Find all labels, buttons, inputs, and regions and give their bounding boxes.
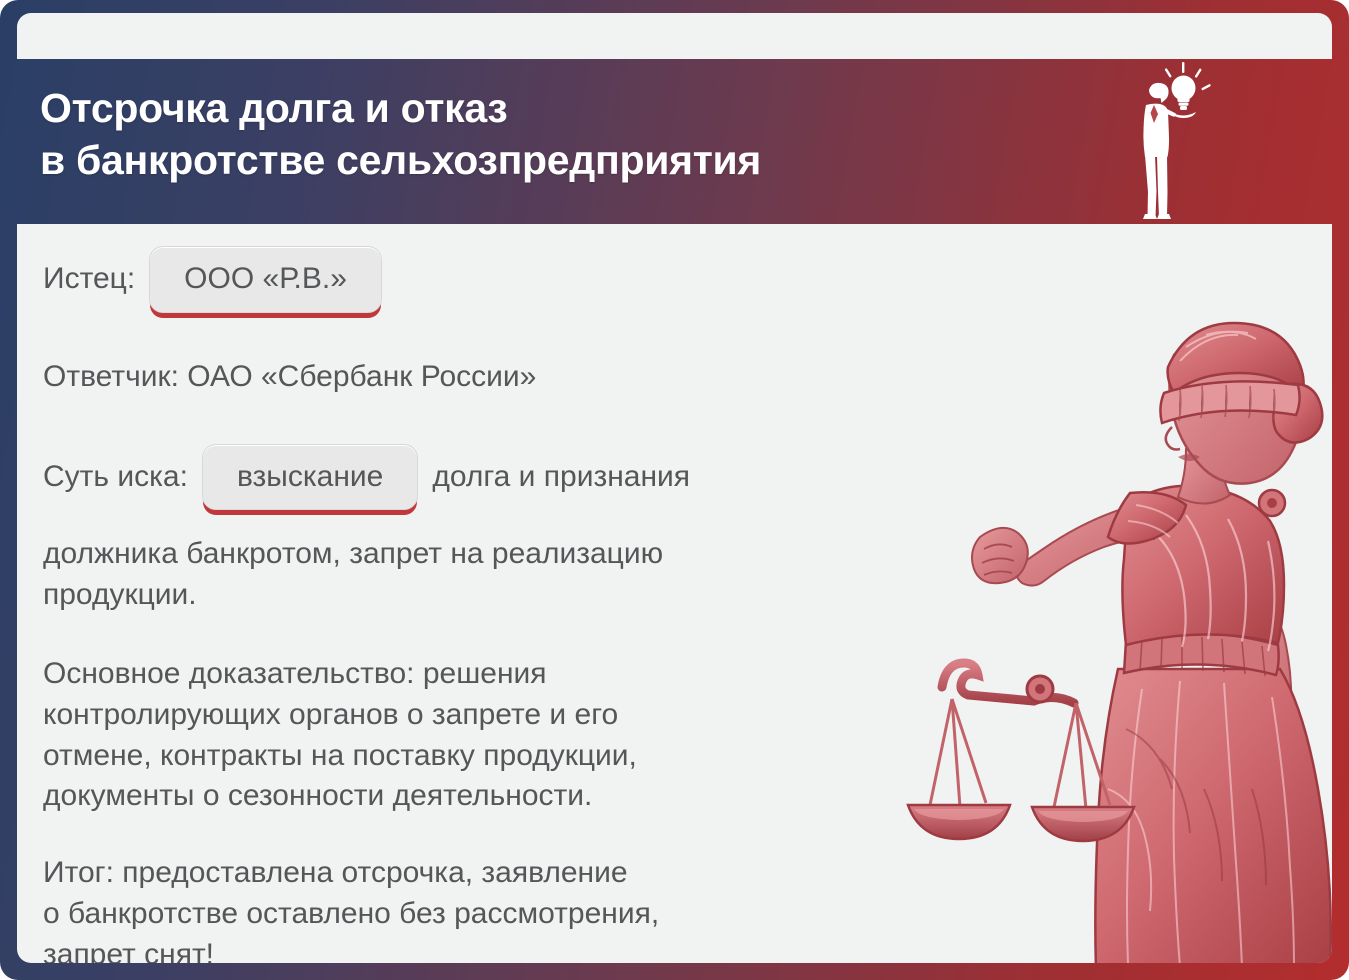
page-title: Отсрочка долга и отказ в банкротстве сел… xyxy=(40,82,1040,187)
claim-continuation: должника банкротом, запрет на реализацию… xyxy=(43,534,873,616)
claim-pill[interactable]: взыскание xyxy=(202,444,418,511)
body-panel: Истец: ООО «Р.В.» Ответчик: ОАО «Сбербан… xyxy=(17,224,1332,963)
claim-row: Суть иска: взыскание долга и признания xyxy=(43,444,1302,511)
case-summary: Истец: ООО «Р.В.» Ответчик: ОАО «Сбербан… xyxy=(17,224,1332,963)
evidence-paragraph: Основное доказательство: решения контрол… xyxy=(43,654,873,817)
claim-tail: долга и признания xyxy=(432,457,690,498)
plaintiff-row: Истец: ООО «Р.В.» xyxy=(43,246,1302,313)
businessman-lightbulb-icon xyxy=(1109,60,1219,220)
plaintiff-pill[interactable]: ООО «Р.В.» xyxy=(149,246,382,313)
info-card: Отсрочка долга и отказ в банкротстве сел… xyxy=(0,0,1349,980)
card-top-strip xyxy=(17,13,1332,59)
result-paragraph: Итог: предоставлена отсрочка, заявление … xyxy=(43,853,873,963)
defendant-line: Ответчик: ОАО «Сбербанк России» xyxy=(43,357,873,398)
claim-label: Суть иска: xyxy=(43,457,188,498)
plaintiff-label: Истец: xyxy=(43,259,135,300)
